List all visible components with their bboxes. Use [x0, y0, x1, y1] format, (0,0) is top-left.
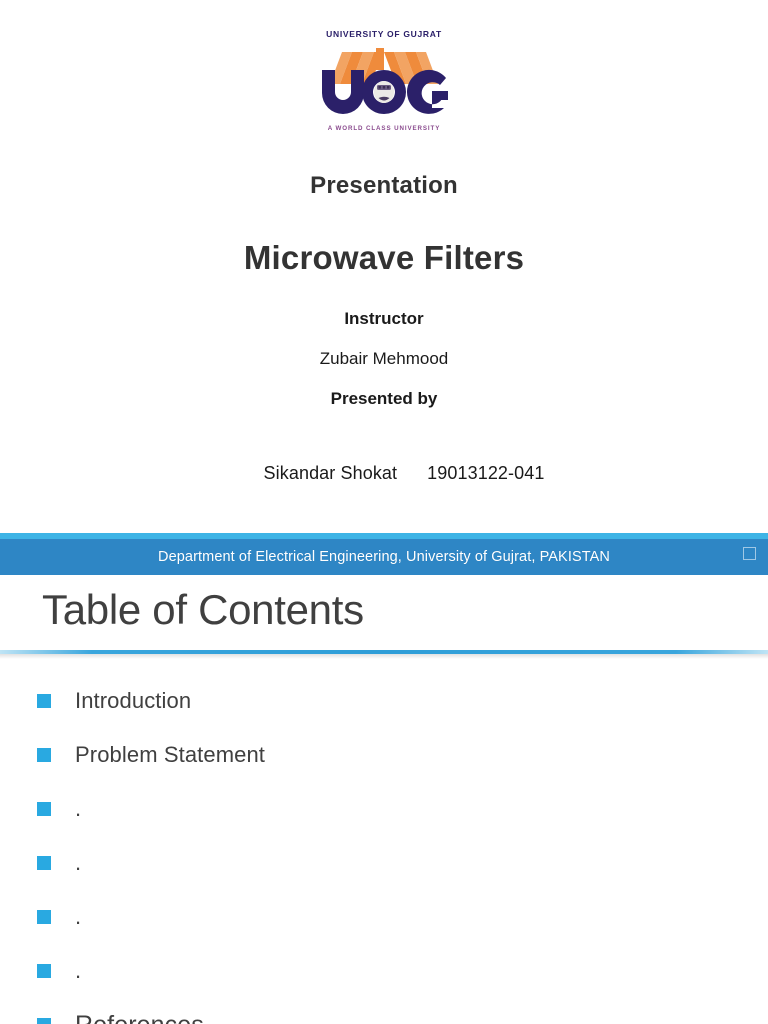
toc-item-label: .	[75, 960, 81, 982]
square-bullet-icon	[37, 1018, 51, 1024]
toc-item-label: References	[75, 1013, 204, 1024]
square-bullet-icon	[37, 964, 51, 978]
toc-item-placeholder[interactable]: .	[0, 890, 768, 944]
list-item: Sikandar Shokat 19013122-041	[0, 428, 768, 518]
square-bullet-icon	[37, 856, 51, 870]
square-bullet-icon	[37, 748, 51, 762]
toc-item-label: .	[75, 906, 81, 928]
toc-item-placeholder[interactable]: .	[0, 836, 768, 890]
toc-item-placeholder[interactable]: .	[0, 782, 768, 836]
slide-document: UNIVERSITY OF GUJRAT	[0, 0, 768, 1024]
student-roll-number: 19013122-041	[427, 463, 544, 483]
square-bullet-icon	[37, 910, 51, 924]
instructor-name: Zubair Mehmood	[0, 349, 768, 369]
page-title: Microwave Filters	[0, 239, 768, 277]
toc-item-label: Problem Statement	[75, 744, 265, 766]
toc-item-placeholder[interactable]: .	[0, 944, 768, 998]
toc-item-label: .	[75, 852, 81, 874]
department-footer-text: Department of Electrical Engineering, Un…	[0, 539, 768, 575]
toc-item-label: .	[75, 798, 81, 820]
presentation-label: Presentation	[0, 172, 768, 200]
title-slide: UNIVERSITY OF GUJRAT	[0, 0, 768, 576]
spacer	[397, 463, 427, 483]
instructor-label: Instructor	[0, 309, 768, 329]
logo-tagline: A WORLD CLASS UNIVERSITY	[308, 125, 460, 132]
toc-list: Introduction Problem Statement . . . .	[0, 674, 768, 1024]
square-bullet-icon	[37, 694, 51, 708]
toc-item-label: Introduction	[75, 690, 191, 712]
uog-logo: UNIVERSITY OF GUJRAT	[308, 24, 460, 134]
toc-item-problem-statement[interactable]: Problem Statement	[0, 728, 768, 782]
logo-university-name: UNIVERSITY OF GUJRAT	[308, 29, 460, 39]
toc-heading: Table of Contents	[42, 586, 364, 634]
logo-container: UNIVERSITY OF GUJRAT	[0, 24, 768, 134]
table-of-contents-slide: Table of Contents Introduction Problem S…	[0, 578, 768, 1024]
heading-divider-shadow	[0, 654, 768, 659]
toc-item-introduction[interactable]: Introduction	[0, 674, 768, 728]
department-footer-banner: Department of Electrical Engineering, Un…	[0, 533, 768, 575]
student-name: Sikandar Shokat	[264, 463, 398, 483]
presented-by-label: Presented by	[0, 389, 768, 409]
toc-item-references[interactable]: References	[0, 998, 768, 1024]
square-bullet-icon	[37, 802, 51, 816]
uog-logo-artwork	[308, 40, 460, 122]
placeholder-box-icon	[743, 547, 756, 560]
